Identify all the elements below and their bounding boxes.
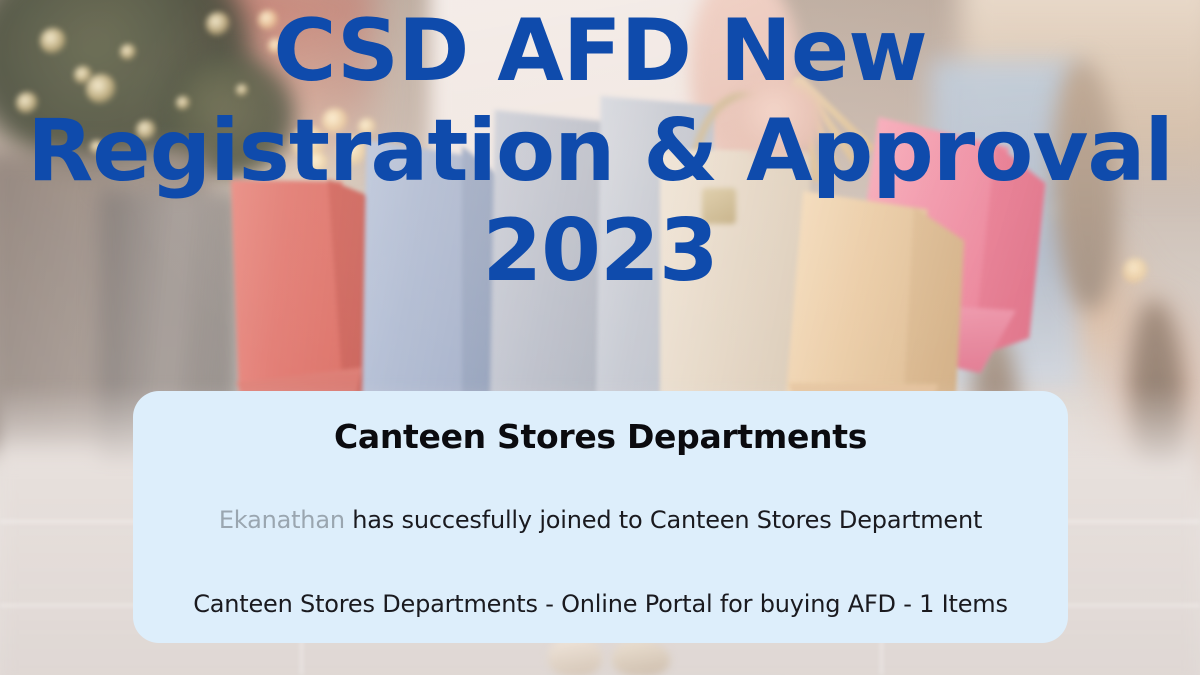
title-line-3: 2023 [0, 208, 1200, 294]
poster-canvas: CSD AFD New Registration & Approval 2023… [0, 0, 1200, 675]
poster-title: CSD AFD New Registration & Approval 2023 [0, 8, 1200, 294]
user-name: Ekanathan [219, 506, 345, 534]
info-card: Canteen Stores Departments Ekanathan has… [133, 391, 1068, 643]
card-heading: Canteen Stores Departments [163, 417, 1038, 456]
title-line-1: CSD AFD New [0, 8, 1200, 94]
card-notice-message: has succesfully joined to Canteen Stores… [345, 506, 982, 534]
card-tagline: Canteen Stores Departments - Online Port… [163, 590, 1038, 618]
title-line-2: Registration & Approval [0, 108, 1200, 194]
background-shoe [612, 640, 670, 675]
card-notice-line: Ekanathan has succesfully joined to Cant… [163, 506, 1038, 534]
